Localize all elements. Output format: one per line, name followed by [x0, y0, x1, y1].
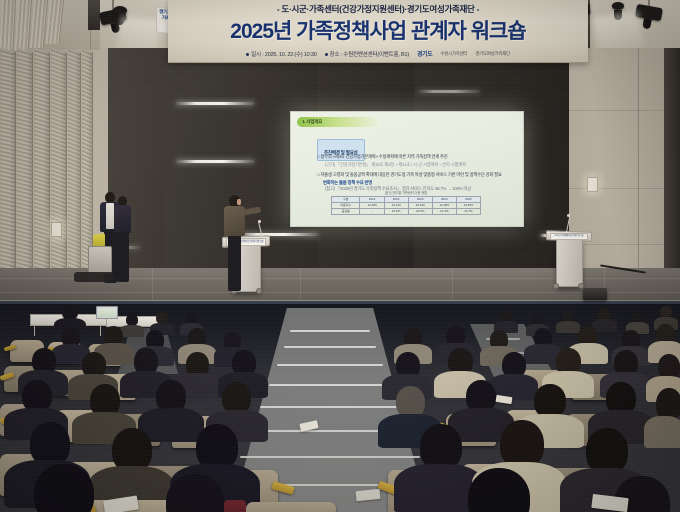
- slide-table-cell: 증감률: [332, 209, 360, 215]
- banner-info-row: 일시 : 2025. 10. 22.(수) 10:30 장소 : 수원컨벤션센터…: [168, 49, 588, 58]
- slide-table-cell: 22.6%: [408, 209, 432, 215]
- slide-table-cell: 21.9%: [384, 209, 408, 215]
- banner-subline-top: - 도·시군·가족센터(건강가정지원센터)·경기도여성가족재단 -: [168, 3, 588, 15]
- operator-laptop: [96, 306, 118, 319]
- banner-logo-foundation: 경기도여성가족재단: [475, 51, 510, 57]
- wall-led-strip: [418, 90, 480, 93]
- banner-title: 2025년 가족정책사업 관계자 워크숍: [168, 15, 588, 45]
- slide-data-table: 구분20212022202320242025 이용자수12,48015,2101…: [331, 196, 481, 215]
- audience-house: [0, 304, 680, 512]
- stage-monitor-speaker: [583, 288, 607, 300]
- ceiling-spotlight: [612, 2, 624, 10]
- right-wall-edge: [664, 48, 680, 300]
- projection-screen: 1. 사업개요 추진배경 및 필요성 □ 정부의 «제4차 건강가정기본계획» …: [290, 111, 524, 227]
- slide-bullet-1-sub: (근거) 「건강가정기본법」 제15조 제4항 ~ 제21조 / 시·군 시행계…: [325, 162, 501, 168]
- secondary-podium-sign-text: 2025년 가족정책사업 관계자 워크숍: [551, 234, 587, 238]
- slide-table-caption: [표1] 연도별 가족센터 이용 현황: [331, 190, 481, 195]
- wall-sconce: [587, 177, 598, 192]
- wall-led-strip: [176, 160, 254, 163]
- secondary-podium-sign: 2025년 가족정책사업 관계자 워크숍: [550, 233, 588, 240]
- handbag: [224, 500, 246, 512]
- seat[interactable]: [246, 502, 336, 512]
- microphone-head: [258, 220, 261, 223]
- stage-cable-pile: [74, 272, 114, 282]
- slide-bullet-2: □ 저출생·고령화 및 돌봄공백 확대에 대응한 경기도형 가족 특성 맞춤형 …: [317, 172, 503, 178]
- wall-led-strip: [176, 102, 254, 105]
- slide-table-cell: 16.7%: [456, 209, 480, 215]
- banner-logo-gyeonggi: 경기도: [417, 49, 432, 58]
- slide-table-row: 증감률-21.9%22.6%14.3%16.7%: [332, 209, 481, 215]
- slide-bullet-2-emphasis: 변화하는 돌봄 정책 수요 반영: [323, 180, 443, 186]
- banner-logo-suwon: 수원시가족센터: [440, 51, 467, 57]
- slide-table-cell: 14.3%: [432, 209, 456, 215]
- slide-header-bar: 1. 사업개요: [297, 117, 382, 127]
- banner-date: 일시 : 2025. 10. 22.(수) 10:30: [246, 50, 316, 58]
- slide-table-cell: -: [360, 209, 384, 215]
- slide-header-text: 1. 사업개요: [297, 117, 382, 127]
- handout-paper: [496, 395, 513, 404]
- event-banner: - 도·시군·가족센터(건강가정지원센터)·경기도여성가족재단 - 2025년 …: [168, 0, 588, 63]
- slide-table-body: 이용자수12,48015,21018,64021,30524,870증감률-21…: [332, 203, 481, 215]
- wall-sconce: [51, 222, 62, 237]
- secondary-microphone-head: [567, 214, 570, 217]
- auditorium-photo: 경기도 여성가족재단 경기도 가족정책 - 도·시군·가족센터(건강가정지원센터: [0, 0, 680, 512]
- slide-bullet-1: □ 정부의 «제4차 건강가정기본계획» 수정계획에 따른 지역 가족정책 연계…: [317, 154, 499, 160]
- equipment-cart: [88, 246, 112, 274]
- ceiling-spotlight: [113, 6, 127, 15]
- banner-venue: 장소 : 수원컨벤션센터(이벤트홀, B1): [325, 50, 409, 58]
